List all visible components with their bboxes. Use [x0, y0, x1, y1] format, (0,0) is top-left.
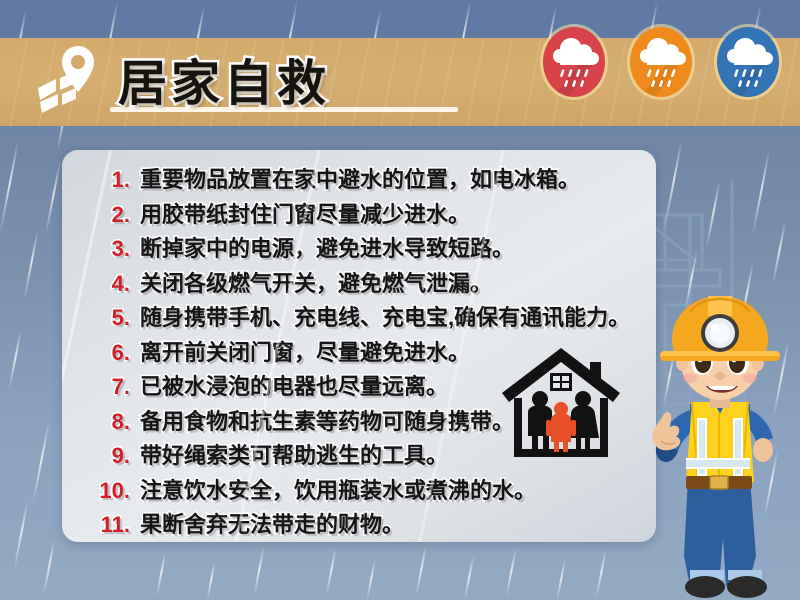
list-item-text: 带好绳索类可帮助逃生的工具。	[140, 438, 448, 470]
list-item-number: 10.	[78, 478, 130, 504]
poster-canvas: 居家自救	[0, 0, 800, 600]
rain-warning-blue-badge[interactable]	[710, 20, 786, 104]
house-family-icon	[498, 346, 624, 464]
list-item: 3. 断掉家中的电源，避免进水导致短路。	[78, 231, 646, 266]
list-item: 2. 用胶带纸封住门窗尽量减少进水。	[78, 197, 646, 232]
list-item-number: 7.	[78, 374, 130, 400]
list-item-number: 9.	[78, 443, 130, 469]
list-item-text: 随身携带手机、充电线、充电宝,确保有通讯能力。	[140, 300, 630, 332]
list-item: 11. 果断舍弃无法带走的财物。	[78, 507, 646, 542]
rescue-worker-character	[630, 292, 800, 600]
rain-warning-orange-badge[interactable]	[623, 20, 699, 104]
list-item-text: 关闭各级燃气开关，避免燃气泄漏。	[140, 266, 492, 298]
list-item: 5. 随身携带手机、充电线、充电宝,确保有通讯能力。	[78, 300, 646, 335]
list-item-number: 2.	[78, 202, 130, 228]
list-item-text: 果断舍弃无法带走的财物。	[140, 507, 404, 539]
rain-warning-red-badge[interactable]	[536, 20, 612, 104]
list-item-number: 3.	[78, 236, 130, 262]
list-item-text: 备用食物和抗生素等药物可随身携带。	[140, 404, 514, 436]
list-item: 10. 注意饮水安全，饮用瓶装水或煮沸的水。	[78, 473, 646, 508]
list-item-text: 已被水浸泡的电器也尽量远离。	[140, 369, 448, 401]
list-item: 1. 重要物品放置在家中避水的位置，如电冰箱。	[78, 162, 646, 197]
list-item-number: 5.	[78, 305, 130, 331]
list-item-text: 断掉家中的电源，避免进水导致短路。	[140, 231, 514, 263]
list-item-text: 离开前关闭门窗，尽量避免进水。	[140, 335, 470, 367]
map-location-pin-icon	[36, 44, 108, 114]
list-item: 4. 关闭各级燃气开关，避免燃气泄漏。	[78, 266, 646, 301]
list-item-number: 11.	[78, 512, 130, 538]
warning-badge-group	[536, 20, 786, 104]
list-item-number: 8.	[78, 409, 130, 435]
tips-card: 1. 重要物品放置在家中避水的位置，如电冰箱。 2. 用胶带纸封住门窗尽量减少进…	[62, 150, 656, 542]
list-item-number: 1.	[78, 167, 130, 193]
list-item-number: 6.	[78, 340, 130, 366]
page-title: 居家自救	[118, 44, 330, 115]
list-item-number: 4.	[78, 271, 130, 297]
list-item-text: 重要物品放置在家中避水的位置，如电冰箱。	[140, 162, 580, 194]
list-item-text: 用胶带纸封住门窗尽量减少进水。	[140, 197, 470, 229]
list-item-text: 注意饮水安全，饮用瓶装水或煮沸的水。	[140, 473, 536, 505]
